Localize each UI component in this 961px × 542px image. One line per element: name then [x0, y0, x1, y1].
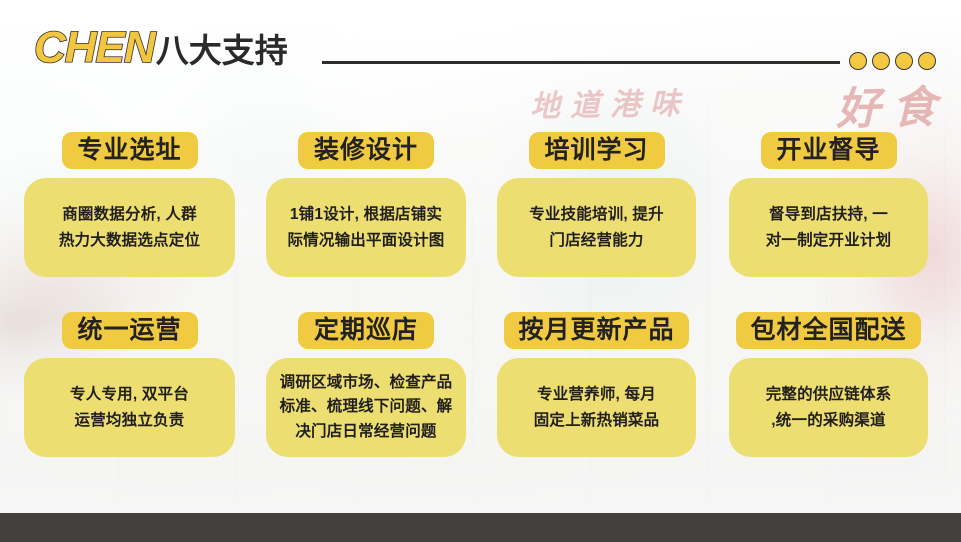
- support-card-5-text: 专人专用, 双平台 运营均独立负责: [70, 382, 189, 432]
- support-card-1-text: 商圈数据分析, 人群 热力大数据选点定位: [59, 202, 200, 252]
- support-card-1-body: 商圈数据分析, 人群 热力大数据选点定位: [24, 178, 235, 277]
- support-card-5-title: 统一运营: [77, 318, 181, 343]
- support-card-2-title: 装修设计: [314, 138, 418, 163]
- support-card-3-header: 培训学习: [529, 132, 665, 169]
- wall-calligraphy-right: 好食: [835, 71, 948, 137]
- support-card-8-header: 包材全国配送: [736, 312, 920, 349]
- support-cards-row-1: 专业选址 商圈数据分析, 人群 热力大数据选点定位 装修设计 1铺1设计, 根据…: [0, 132, 961, 312]
- support-card-4[interactable]: 开业督导 督导到店扶持, 一 对一制定开业计划: [729, 132, 928, 277]
- bottom-bar: [0, 513, 961, 542]
- support-card-6-title: 定期巡店: [314, 318, 418, 343]
- support-cards-grid: 专业选址 商圈数据分析, 人群 热力大数据选点定位 装修设计 1铺1设计, 根据…: [0, 132, 961, 492]
- page-title: CHEN 八大支持: [34, 26, 288, 70]
- support-card-2-body: 1铺1设计, 根据店铺实 际情况输出平面设计图: [266, 178, 466, 277]
- support-card-7-body: 专业营养师, 每月 固定上新热销菜品: [497, 358, 696, 457]
- support-card-4-body: 督导到店扶持, 一 对一制定开业计划: [729, 178, 928, 277]
- support-card-8-body: 完整的供应链体系 ,统一的采购渠道: [729, 358, 928, 457]
- title-divider-rule: [322, 61, 840, 64]
- support-card-4-text: 督导到店扶持, 一 对一制定开业计划: [766, 202, 892, 252]
- support-card-4-title: 开业督导: [776, 138, 880, 163]
- brand-name: CHEN: [34, 26, 155, 70]
- decoration-dot-1: [849, 52, 867, 70]
- support-card-5-header: 统一运营: [62, 312, 198, 349]
- support-card-5-body: 专人专用, 双平台 运营均独立负责: [24, 358, 235, 457]
- support-card-3-title: 培训学习: [544, 138, 648, 163]
- support-card-3-body: 专业技能培训, 提升 门店经营能力: [497, 178, 696, 277]
- wall-calligraphy-left: 地道港味: [530, 78, 691, 125]
- support-card-2-header: 装修设计: [298, 132, 434, 169]
- title-dot-decoration: [849, 52, 936, 70]
- support-card-1-header: 专业选址: [62, 132, 198, 169]
- support-card-6[interactable]: 定期巡店 调研区域市场、检查产品 标准、梳理线下问题、解 决门店日常经营问题: [266, 312, 466, 457]
- support-card-7[interactable]: 按月更新产品 专业营养师, 每月 固定上新热销菜品: [497, 312, 696, 457]
- support-card-8[interactable]: 包材全国配送 完整的供应链体系 ,统一的采购渠道: [729, 312, 928, 457]
- support-card-8-title: 包材全国配送: [750, 318, 906, 343]
- support-card-7-title: 按月更新产品: [518, 318, 674, 343]
- support-cards-row-2: 统一运营 专人专用, 双平台 运营均独立负责 定期巡店 调研区域市场、检查产品: [0, 312, 961, 492]
- support-card-4-header: 开业督导: [761, 132, 897, 169]
- support-card-6-text: 调研区域市场、检查产品 标准、梳理线下问题、解 决门店日常经营问题: [280, 371, 453, 443]
- support-card-7-text: 专业营养师, 每月 固定上新热销菜品: [534, 382, 660, 432]
- support-card-1[interactable]: 专业选址 商圈数据分析, 人群 热力大数据选点定位: [24, 132, 235, 277]
- support-card-2[interactable]: 装修设计 1铺1设计, 根据店铺实 际情况输出平面设计图: [266, 132, 466, 277]
- background-top-strip: [0, 0, 961, 20]
- decoration-dot-4: [918, 52, 936, 70]
- support-card-3[interactable]: 培训学习 专业技能培训, 提升 门店经营能力: [497, 132, 696, 277]
- support-card-2-text: 1铺1设计, 根据店铺实 际情况输出平面设计图: [287, 202, 444, 252]
- page-subtitle: 八大支持: [156, 34, 288, 67]
- slide-root: 地道港味 好食 CHEN 八大支持 专业选址 商圈数据分析, 人群 热力大数据选…: [0, 0, 961, 542]
- support-card-7-header: 按月更新产品: [504, 312, 688, 349]
- support-card-6-header: 定期巡店: [298, 312, 434, 349]
- decoration-dot-2: [872, 52, 890, 70]
- support-card-8-text: 完整的供应链体系 ,统一的采购渠道: [766, 382, 892, 432]
- support-card-1-title: 专业选址: [77, 138, 181, 163]
- decoration-dot-3: [895, 52, 913, 70]
- support-card-5[interactable]: 统一运营 专人专用, 双平台 运营均独立负责: [24, 312, 235, 457]
- support-card-6-body: 调研区域市场、检查产品 标准、梳理线下问题、解 决门店日常经营问题: [266, 358, 466, 457]
- support-card-3-text: 专业技能培训, 提升 门店经营能力: [529, 202, 664, 252]
